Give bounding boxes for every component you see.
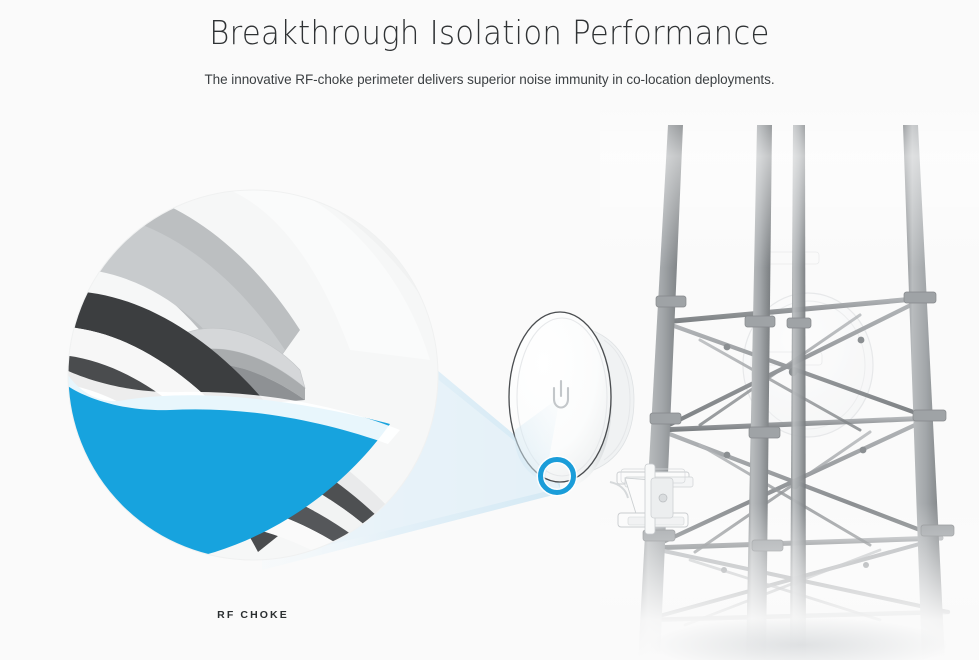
bracket-pivot-bolt <box>659 494 667 502</box>
header: Breakthrough Isolation Performance The i… <box>0 0 979 100</box>
illustration-stage <box>0 100 979 660</box>
lattice-tower <box>600 100 979 660</box>
magnifier-content <box>14 155 470 660</box>
page-subtitle: The innovative RF-choke perimeter delive… <box>0 49 979 87</box>
hero-illustration-page: Breakthrough Isolation Performance The i… <box>0 0 979 660</box>
rf-choke-magnifier[interactable] <box>14 155 470 660</box>
illustration-svg <box>0 100 979 660</box>
page-title: Breakthrough Isolation Performance <box>34 0 944 49</box>
rf-choke-caption: RF CHOKE <box>68 609 438 621</box>
tower-fade-overlay <box>600 100 979 660</box>
